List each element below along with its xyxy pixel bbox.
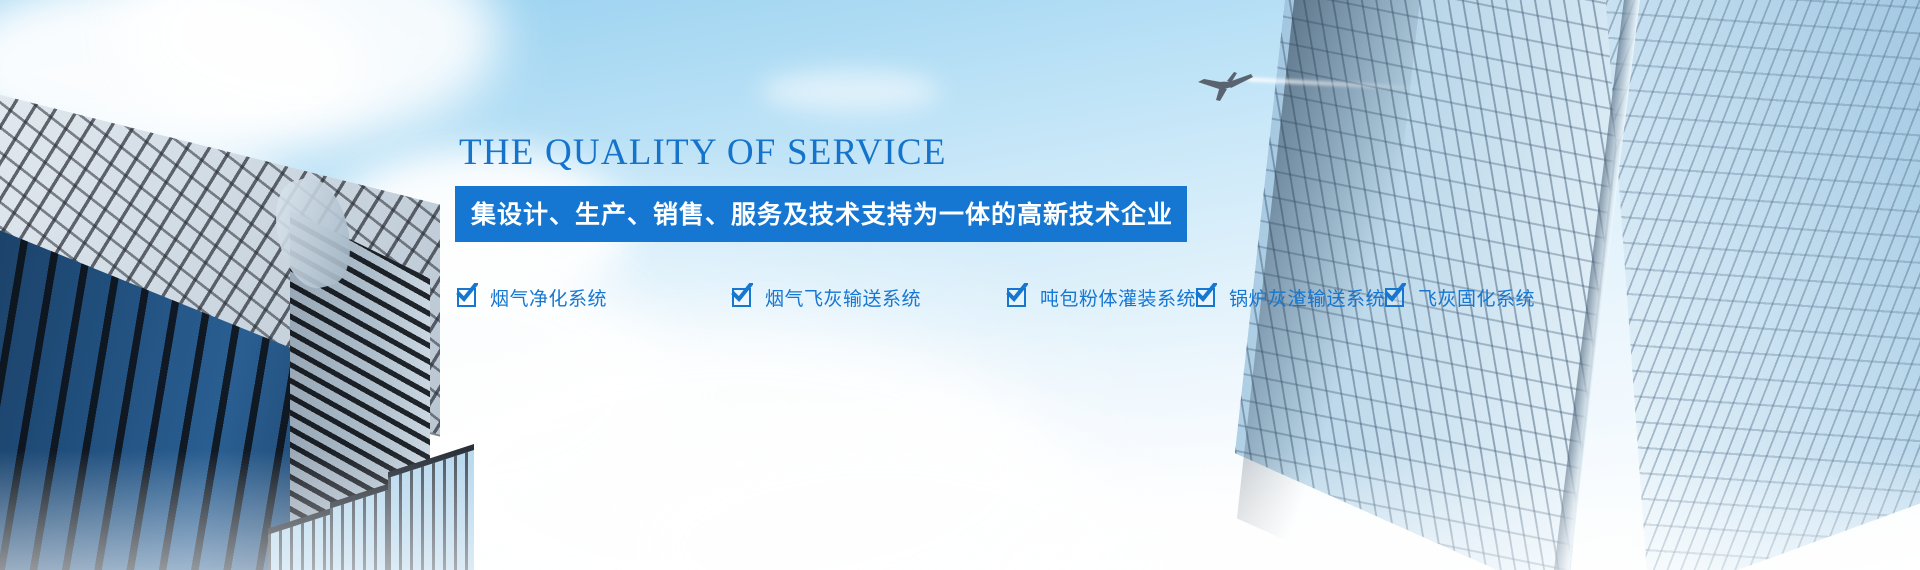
feature-label: 烟气飞灰输送系统 [765, 284, 921, 311]
hero-banner: THE QUALITY OF SERVICE 集设计、生产、销售、服务及技术支持… [0, 0, 1920, 570]
checkbox-checked-icon [457, 288, 476, 307]
feature-label: 锅炉灰渣输送系统 [1229, 284, 1385, 311]
subtitle-bar: 集设计、生产、销售、服务及技术支持为一体的高新技术企业 [455, 186, 1187, 242]
feature-item[interactable]: 飞灰固化系统 [1385, 284, 1535, 311]
feature-item[interactable]: 烟气净化系统 [457, 284, 732, 311]
right-skyscraper-face-right [1600, 0, 1920, 570]
feature-label: 飞灰固化系统 [1418, 284, 1535, 311]
headline-english: THE QUALITY OF SERVICE [455, 134, 1435, 171]
checkbox-checked-icon [1196, 288, 1215, 307]
checkbox-checked-icon [1007, 288, 1026, 307]
checkbox-checked-icon [732, 288, 751, 307]
feature-item[interactable]: 烟气飞灰输送系统 [732, 284, 1007, 311]
airplane-icon [1196, 70, 1254, 104]
checkbox-checked-icon [1385, 288, 1404, 307]
feature-label: 吨包粉体灌装系统 [1040, 284, 1196, 311]
banner-content: THE QUALITY OF SERVICE 集设计、生产、销售、服务及技术支持… [455, 134, 1435, 318]
feature-item[interactable]: 吨包粉体灌装系统 [1007, 284, 1196, 311]
feature-item[interactable]: 锅炉灰渣输送系统 [1196, 284, 1385, 311]
contrail [1248, 77, 1426, 90]
feature-list: 烟气净化系统 烟气飞灰输送系统 吨包粉体灌装系统 [455, 276, 1435, 318]
small-stepped-building [268, 452, 478, 570]
feature-label: 烟气净化系统 [490, 284, 607, 311]
small-building-block [388, 444, 474, 570]
airplane-group [1196, 66, 1426, 126]
